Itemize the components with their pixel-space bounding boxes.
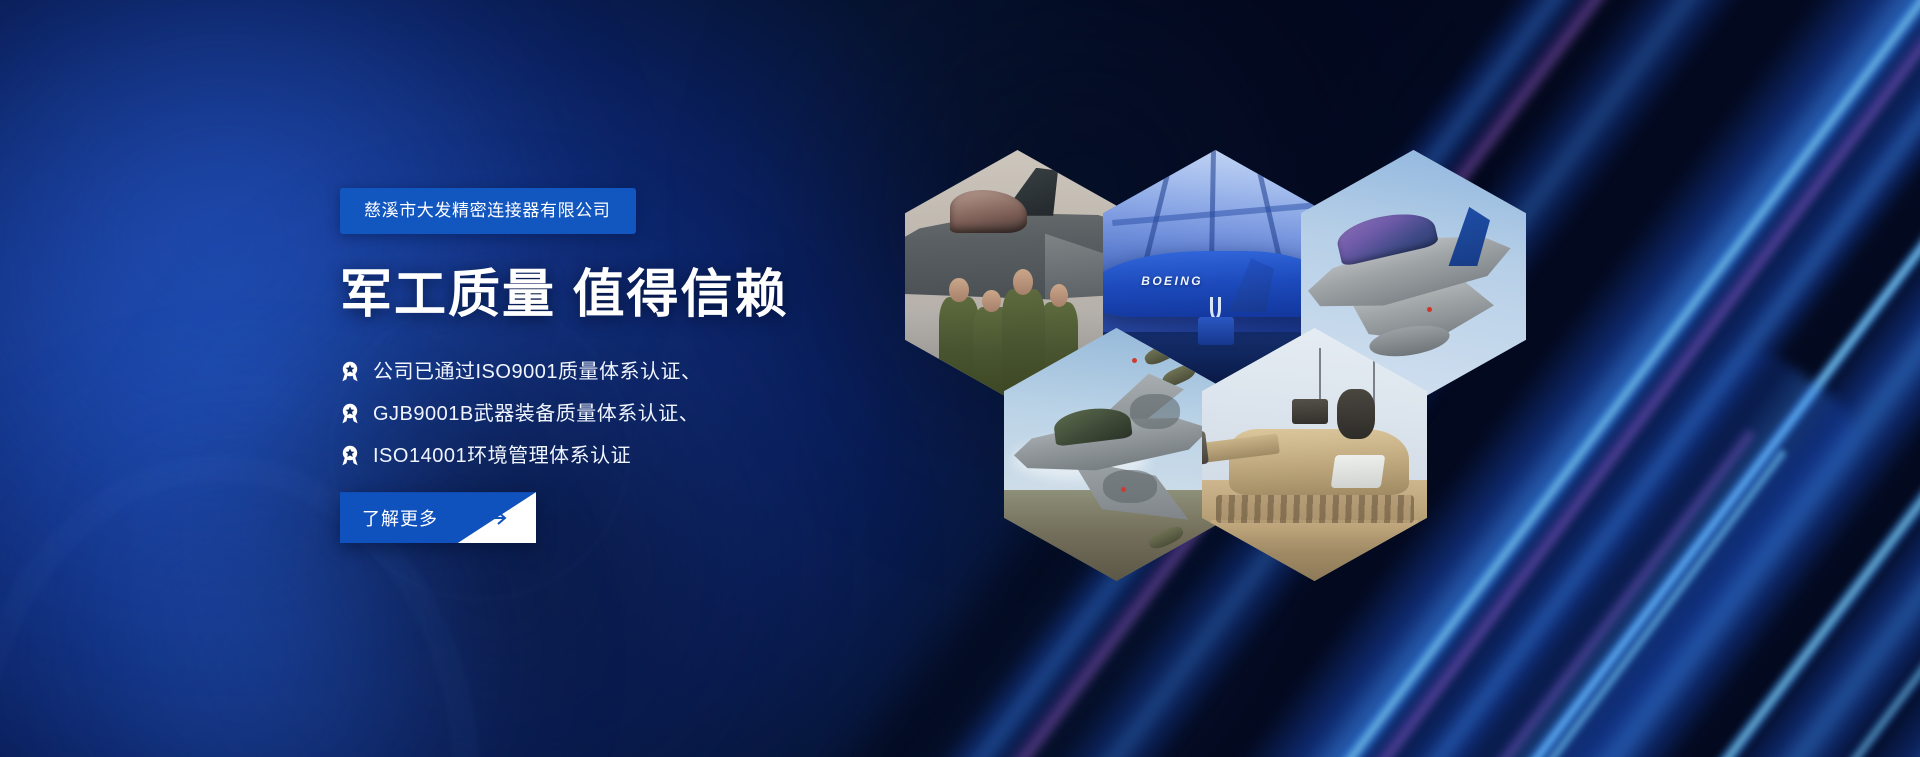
hero-banner: BOEING	[0, 0, 1920, 757]
medal-icon	[340, 445, 360, 466]
medal-icon	[340, 361, 360, 382]
learn-more-button[interactable]: 了解更多	[340, 492, 536, 543]
certification-list: 公司已通过ISO9001质量体系认证、 GJB9001B武器装备质量体系认证、	[340, 361, 860, 466]
list-item-label: ISO14001环境管理体系认证	[373, 446, 631, 466]
list-item-label: GJB9001B武器装备质量体系认证、	[373, 404, 699, 424]
boeing-logo-text: BOEING	[1141, 274, 1203, 288]
company-name-badge: 慈溪市大发精密连接器有限公司	[340, 188, 636, 234]
list-item: 公司已通过ISO9001质量体系认证、	[340, 361, 860, 382]
cta-label: 了解更多	[362, 492, 438, 543]
arrow-right-icon	[464, 492, 510, 543]
hexagon-photo-cluster: BOEING	[905, 140, 1525, 640]
banner-content: 慈溪市大发精密连接器有限公司 军工质量 值得信赖 公司已通过ISO9001质量体…	[340, 188, 860, 543]
medal-icon	[340, 403, 360, 424]
list-item: GJB9001B武器装备质量体系认证、	[340, 403, 860, 424]
list-item-label: 公司已通过ISO9001质量体系认证、	[373, 362, 701, 382]
page-title: 军工质量 值得信赖	[340, 268, 860, 323]
list-item: ISO14001环境管理体系认证	[340, 445, 860, 466]
